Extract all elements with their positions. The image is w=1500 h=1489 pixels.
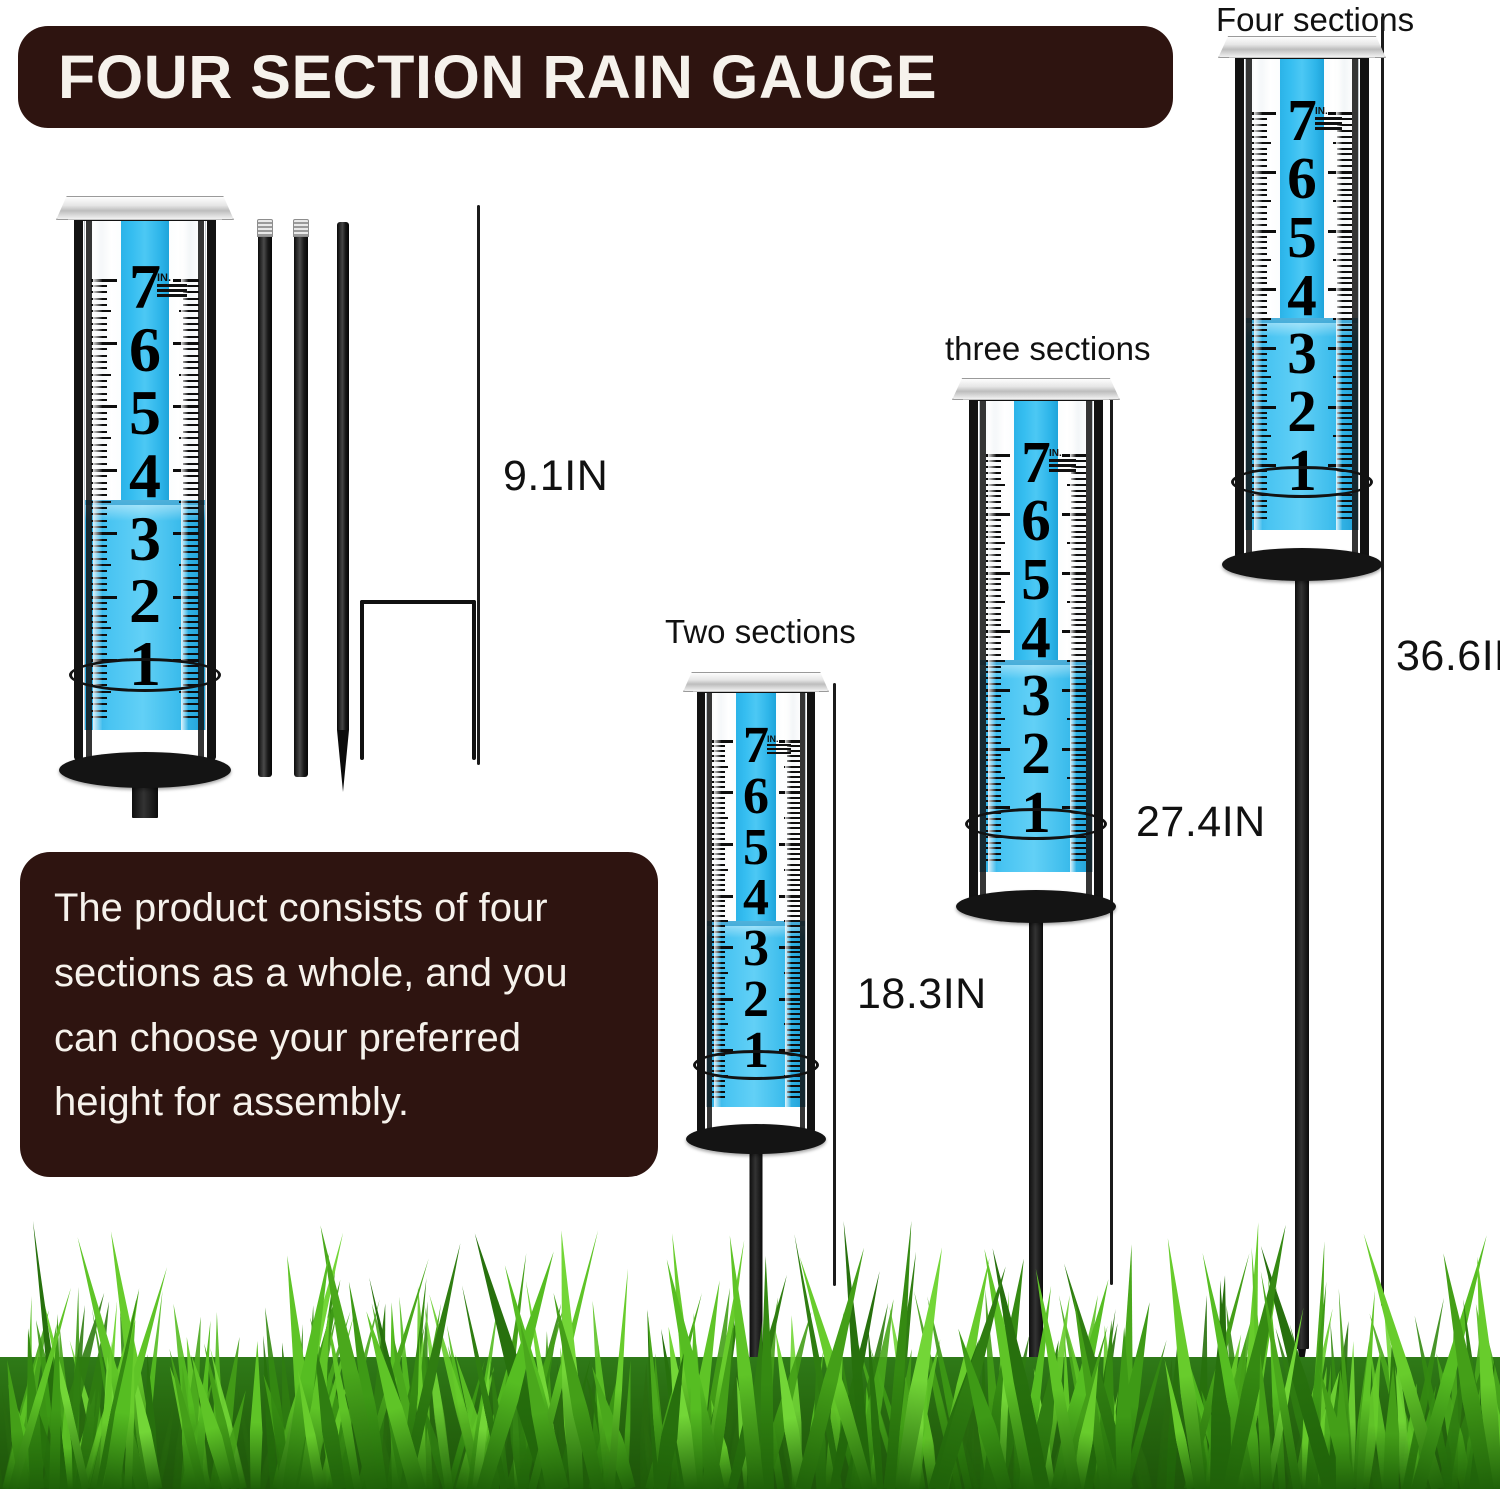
grass-blade: [455, 1365, 500, 1489]
grass-blade: [466, 1299, 503, 1489]
gauge-cylinder: 7654321 IN.: [979, 400, 1093, 872]
grass-blade: [966, 1357, 1001, 1489]
grass-blade: [8, 1286, 75, 1489]
grass-blade: [176, 1424, 195, 1489]
grass-blade: [125, 1348, 158, 1489]
grass-blade: [923, 1295, 973, 1489]
grass-blade: [715, 1357, 744, 1489]
rain-gauge-four-sections[interactable]: 7654321 IN.: [1222, 36, 1382, 596]
grass-blade: [1181, 1357, 1204, 1489]
grass-blade: [1247, 1247, 1270, 1489]
grass-blade: [1286, 1402, 1312, 1489]
grass-blade: [94, 1379, 127, 1489]
grass-blade: [1197, 1251, 1257, 1489]
grass-blade: [471, 1387, 486, 1489]
grass-blade: [1060, 1334, 1072, 1489]
grass-blade: [249, 1341, 264, 1489]
gauge-cylinder: 7654321 IN.: [1245, 58, 1359, 530]
grass-blade: [552, 1230, 585, 1489]
grass-blade: [270, 1393, 285, 1489]
grass-blade: [411, 1388, 437, 1489]
grass-blade: [424, 1394, 452, 1489]
grass-blade: [824, 1311, 850, 1489]
gauge-unit-bars: [157, 284, 187, 297]
gauge-funnel-cap: [683, 672, 829, 692]
grass-blade: [1180, 1347, 1212, 1489]
grass-blade: [1054, 1295, 1102, 1489]
grass-blade: [849, 1324, 903, 1489]
grass-blade: [1416, 1368, 1444, 1489]
grass-blade: [72, 1235, 148, 1489]
grass-blade: [911, 1377, 933, 1489]
grass-blade: [664, 1429, 675, 1489]
grass-blade: [793, 1255, 875, 1489]
grass-blade: [1058, 1262, 1133, 1489]
grass-blade: [1097, 1325, 1120, 1489]
gauge-unit-label: IN.: [1315, 106, 1342, 132]
grass-blade: [1086, 1347, 1109, 1489]
grass-blade: [427, 1424, 439, 1489]
grass-blade: [1057, 1293, 1105, 1489]
grass-blade: [367, 1303, 392, 1489]
grass-blade: [88, 1338, 137, 1489]
grass-blade: [53, 1326, 74, 1489]
grass-blade: [929, 1336, 988, 1489]
grass-blade: [71, 1287, 82, 1489]
grass-blade: [1207, 1306, 1261, 1489]
grass-blade: [1058, 1416, 1072, 1489]
grass-blade: [99, 1356, 122, 1489]
grass-blade: [293, 1369, 326, 1489]
grass-blade: [512, 1302, 568, 1489]
grass-blade: [305, 1313, 357, 1489]
grass-blade: [643, 1309, 662, 1489]
grass-blade: [382, 1354, 391, 1489]
grass-blade: [677, 1406, 695, 1489]
gauge-unit-bars: [1315, 117, 1342, 130]
grass-blade: [1453, 1361, 1480, 1489]
grass-blade: [24, 1296, 35, 1489]
grass-blade: [303, 1305, 319, 1489]
grass-blade: [372, 1419, 393, 1489]
grass-blade: [539, 1419, 550, 1489]
grass-blade: [1111, 1397, 1144, 1489]
grass-blade: [199, 1342, 241, 1489]
gauge-ring-band: [965, 808, 1107, 840]
grass-blade: [22, 1328, 45, 1489]
grass-blade: [666, 1233, 703, 1489]
grass-blade: [465, 1417, 483, 1489]
grass-blade: [63, 1374, 99, 1489]
grass-blade: [1124, 1407, 1147, 1489]
dimension-bracket-9in: [360, 600, 480, 765]
grass-blade: [554, 1346, 583, 1489]
grass-blade: [86, 1429, 109, 1489]
grass-blade: [1346, 1377, 1377, 1489]
grass-blade: [270, 1310, 330, 1489]
grass-blade: [883, 1251, 921, 1489]
grass-blade: [1208, 1335, 1261, 1489]
grass-blade: [2, 1346, 43, 1489]
grass-blade: [1246, 1380, 1262, 1489]
ground-stake[interactable]: [337, 222, 349, 730]
grass-blade: [1233, 1367, 1263, 1489]
grass-blade: [768, 1329, 808, 1489]
grass-blade: [416, 1335, 427, 1489]
grass-blade: [587, 1300, 614, 1489]
grass-blade: [1049, 1427, 1071, 1489]
grass-blade: [899, 1338, 946, 1489]
grass-blade: [1312, 1366, 1357, 1489]
grass-blade: [326, 1404, 356, 1489]
grass-blade: [1254, 1353, 1272, 1489]
grass-blade: [273, 1398, 305, 1489]
grass-blade: [1468, 1302, 1500, 1489]
grass-blade: [1070, 1394, 1081, 1489]
grass-blade: [1469, 1257, 1500, 1489]
measurement-label-36in: 36.6IN: [1396, 632, 1500, 681]
grass-blade: [697, 1286, 737, 1489]
grass-blade: [1226, 1336, 1251, 1489]
grass-blade: [1161, 1237, 1208, 1489]
grass-blade: [451, 1414, 479, 1489]
grass-blade: [815, 1358, 847, 1489]
grass-blade: [645, 1292, 706, 1489]
grass-blade: [1371, 1420, 1397, 1489]
grass-blade: [1183, 1252, 1253, 1489]
extension-rod-1[interactable]: [258, 232, 272, 777]
rain-gauge-two-sections[interactable]: 7654321 IN.: [686, 672, 826, 1172]
grass-blade: [934, 1256, 997, 1489]
grass-blade: [1255, 1391, 1281, 1489]
grass-blade: [375, 1379, 394, 1489]
dimension-line-9in: [477, 205, 480, 765]
extension-rod-2[interactable]: [294, 232, 308, 777]
grass-blade: [1080, 1322, 1123, 1489]
grass-blade: [62, 1401, 91, 1489]
rain-gauge-single-section[interactable]: 7654321 IN.: [60, 196, 230, 796]
grass-blade: [262, 1394, 289, 1489]
grass-blade: [385, 1385, 417, 1489]
grass-blade: [1085, 1308, 1120, 1489]
grass-blade: [442, 1344, 485, 1489]
grass-blade: [103, 1318, 144, 1489]
dimension-line-36in: [1381, 16, 1384, 1306]
measurement-label-27in: 27.4IN: [1136, 798, 1266, 847]
grass-blade: [387, 1321, 429, 1489]
grass-blade: [37, 1292, 90, 1489]
grass-blade: [980, 1341, 987, 1489]
grass-blade: [802, 1346, 827, 1489]
grass-blade: [259, 1335, 278, 1489]
grass-blade: [322, 1312, 363, 1489]
grass-blade: [1463, 1319, 1488, 1489]
grass-blade: [446, 1359, 488, 1489]
grass-blade: [292, 1324, 307, 1489]
grass-blade: [174, 1404, 199, 1489]
gauge-ground-stake: [1295, 574, 1309, 1349]
gauge-unit-text: IN.: [767, 734, 779, 744]
grass-blade: [221, 1384, 232, 1489]
grass-blade: [867, 1347, 917, 1489]
grass-blade: [29, 1319, 75, 1489]
grass-blade: [93, 1395, 124, 1489]
grass-blade: [29, 1400, 61, 1489]
gauge-unit-bars: [1049, 459, 1076, 472]
grass-blade: [28, 1323, 63, 1489]
grass-blade: [658, 1257, 724, 1489]
grass-blade: [854, 1410, 869, 1489]
grass-blade: [504, 1303, 570, 1489]
grass-blade: [1323, 1320, 1356, 1489]
grass-blade: [1240, 1222, 1264, 1489]
grass-blade: [1094, 1358, 1111, 1489]
grass-blade: [485, 1404, 518, 1489]
grass-blade: [1240, 1366, 1261, 1489]
grass-blade: [455, 1359, 488, 1489]
grass-blade: [315, 1369, 325, 1489]
grass-blade: [358, 1389, 392, 1489]
grass-blade: [163, 1364, 214, 1489]
grass-blade: [1194, 1388, 1235, 1489]
grass-blade: [1429, 1351, 1475, 1489]
grass-blade: [109, 1378, 130, 1489]
grass-blade: [512, 1318, 563, 1489]
grass-blade: [306, 1338, 347, 1489]
infographic-stage: FOUR SECTION RAIN GAUGE The product cons…: [0, 0, 1500, 1489]
grass-blade: [350, 1359, 398, 1489]
grass-blade: [995, 1299, 1009, 1489]
grass-blade: [1387, 1405, 1410, 1489]
gauge-funnel-cap: [1218, 36, 1386, 58]
grass-blade: [498, 1263, 569, 1489]
grass-blade: [360, 1391, 387, 1489]
grass-blade: [95, 1288, 143, 1489]
grass-blade: [491, 1253, 530, 1489]
grass-blade: [1160, 1358, 1196, 1489]
grass-blade: [416, 1403, 429, 1489]
grass-blade: [1209, 1416, 1227, 1489]
grass-blade: [1273, 1414, 1301, 1489]
grass-blade: [284, 1278, 348, 1489]
grass-blade: [698, 1298, 747, 1489]
gauge-cylinder: 7654321 IN.: [84, 220, 206, 730]
grass-blade: [838, 1220, 872, 1489]
grass-blade: [207, 1347, 248, 1489]
grass-blade: [392, 1428, 401, 1489]
grass-blade: [1497, 1321, 1500, 1489]
grass-blade: [49, 1314, 63, 1489]
grass-blade: [1357, 1232, 1445, 1489]
grass-blade: [1193, 1377, 1210, 1489]
grass-blade: [470, 1424, 486, 1489]
section-label-four: Four sections: [1216, 1, 1414, 39]
gauge-base-plate: [956, 890, 1116, 923]
grass-blade: [1055, 1371, 1095, 1489]
grass-blade: [522, 1280, 564, 1489]
grass-blade: [485, 1417, 495, 1489]
grass-blade: [980, 1257, 1033, 1489]
grass-blade: [1233, 1375, 1260, 1489]
grass-blade: [407, 1303, 445, 1489]
grass-blade: [998, 1291, 1013, 1489]
grass-blade: [365, 1302, 424, 1489]
grass-blade: [59, 1397, 73, 1489]
grass-blade: [1435, 1251, 1496, 1489]
gauge-funnel-cap: [952, 378, 1120, 400]
grass-blade: [0, 1359, 30, 1489]
grass-blade: [288, 1354, 338, 1489]
grass-blade: [539, 1372, 570, 1489]
grass-blade: [88, 1389, 105, 1489]
grass-blade: [576, 1365, 600, 1489]
grass-blade: [1263, 1274, 1286, 1489]
grass-blade: [643, 1311, 666, 1489]
rain-gauge-three-sections[interactable]: 7654321 IN.: [956, 378, 1116, 938]
grass-blade: [1187, 1379, 1215, 1489]
grass-blade: [414, 1301, 433, 1489]
grass-blade: [1480, 1393, 1493, 1489]
grass-blade: [0, 1391, 4, 1489]
grass-blade: [177, 1366, 197, 1489]
grass-blade: [311, 1223, 381, 1489]
grass-blade: [155, 1391, 179, 1489]
grass-blade: [216, 1389, 251, 1489]
grass-blade: [510, 1363, 521, 1489]
grass-blade: [257, 1420, 283, 1489]
grass-blade: [1209, 1336, 1253, 1489]
grass-blade: [303, 1316, 362, 1489]
grass-blade: [639, 1362, 652, 1489]
grass-blade: [1118, 1244, 1137, 1489]
grass-blade: [274, 1293, 335, 1489]
grass-blade: [622, 1360, 634, 1489]
grass-blade: [395, 1394, 407, 1489]
grass-blade: [1129, 1427, 1153, 1489]
grass-blade: [584, 1365, 637, 1489]
title-banner: FOUR SECTION RAIN GAUGE: [18, 26, 1173, 128]
grass-blade: [1172, 1321, 1228, 1489]
grass-blade: [1479, 1364, 1500, 1489]
grass-blade: [538, 1385, 550, 1489]
grass-blade: [580, 1388, 615, 1489]
grass-blade: [704, 1398, 735, 1489]
grass-blade: [789, 1409, 798, 1489]
grass-blade: [1463, 1379, 1488, 1489]
grass-blade: [1002, 1403, 1029, 1489]
grass-blade: [864, 1326, 885, 1489]
grass-blade: [706, 1317, 740, 1489]
gauge-ground-stake: [750, 1148, 763, 1489]
grass-blade: [1378, 1309, 1414, 1489]
grass-blade: [59, 1413, 82, 1489]
grass-blade: [638, 1413, 659, 1489]
grass-blade: [292, 1317, 334, 1489]
grass-blade: [18, 1365, 52, 1489]
gauge-unit-text: IN.: [157, 272, 171, 284]
grass-blade: [280, 1251, 338, 1489]
grass-blade: [1345, 1341, 1358, 1489]
grass-blade: [652, 1351, 692, 1489]
grass-blade: [1301, 1388, 1310, 1489]
grass-blade: [486, 1361, 510, 1489]
grass-blade: [336, 1349, 374, 1489]
grass-blade: [903, 1351, 931, 1489]
grass-blade: [1076, 1314, 1133, 1489]
grass-blade: [710, 1419, 733, 1489]
grass-blade: [377, 1362, 406, 1489]
grass-blade: [64, 1388, 93, 1489]
grass-blade: [399, 1242, 466, 1489]
grass-blade: [893, 1246, 950, 1489]
description-banner: The product consists of four sections as…: [20, 852, 658, 1177]
grass-blade: [466, 1231, 556, 1489]
gauge-unit-text: IN.: [1049, 448, 1062, 459]
grass-blade: [528, 1229, 602, 1489]
grass-blade: [312, 1413, 330, 1489]
grass-blade: [1112, 1418, 1136, 1489]
grass-blade: [1365, 1312, 1426, 1489]
grass-blade: [1291, 1363, 1326, 1489]
grass-blade: [1070, 1387, 1110, 1489]
grass-blade: [98, 1265, 172, 1489]
grass-blade: [593, 1381, 628, 1489]
grass-blade: [1402, 1389, 1439, 1489]
grass-blade: [910, 1290, 963, 1489]
grass-blade: [1456, 1397, 1472, 1489]
grass-blade: [124, 1318, 138, 1489]
dimension-line-18in: [833, 683, 836, 1286]
grass-blade: [650, 1353, 665, 1489]
grass-blade: [474, 1365, 494, 1489]
grass-blade: [1060, 1325, 1112, 1489]
gauge-ticks-left: [91, 220, 117, 730]
grass-blade: [703, 1348, 732, 1489]
grass-blade: [541, 1331, 553, 1489]
grass-blade: [888, 1348, 919, 1489]
grass-blade: [500, 1361, 532, 1489]
gauge-ring-band: [1231, 466, 1373, 498]
grass-blade: [11, 1398, 32, 1489]
grass-blade: [601, 1384, 623, 1489]
grass-blade: [1062, 1383, 1088, 1489]
grass-blade: [1402, 1297, 1448, 1489]
measurement-label-9in: 9.1IN: [503, 452, 608, 501]
grass-blade: [1286, 1323, 1337, 1489]
grass-blade: [98, 1341, 117, 1489]
grass-blade: [431, 1427, 441, 1489]
grass-blade: [1374, 1428, 1396, 1489]
grass-blade: [892, 1356, 914, 1489]
grass-blade: [476, 1340, 521, 1489]
grass-blade: [443, 1324, 481, 1489]
grass-blade: [459, 1284, 509, 1489]
gauge-base-plate: [1222, 548, 1382, 581]
grass-blade: [935, 1394, 959, 1489]
grass-blade: [365, 1276, 420, 1489]
grass-blade: [1320, 1364, 1335, 1489]
grass-blade: [1352, 1341, 1375, 1489]
grass-blade: [551, 1362, 575, 1489]
grass-blade: [1464, 1362, 1500, 1489]
grass-blade: [1448, 1374, 1473, 1489]
grass-blade: [837, 1358, 862, 1489]
gauge-ring-band: [693, 1050, 819, 1080]
grass-blade: [0, 1389, 20, 1489]
grass-blade: [60, 1305, 91, 1489]
grass-blade: [1049, 1278, 1116, 1489]
grass-blade: [1448, 1377, 1481, 1489]
